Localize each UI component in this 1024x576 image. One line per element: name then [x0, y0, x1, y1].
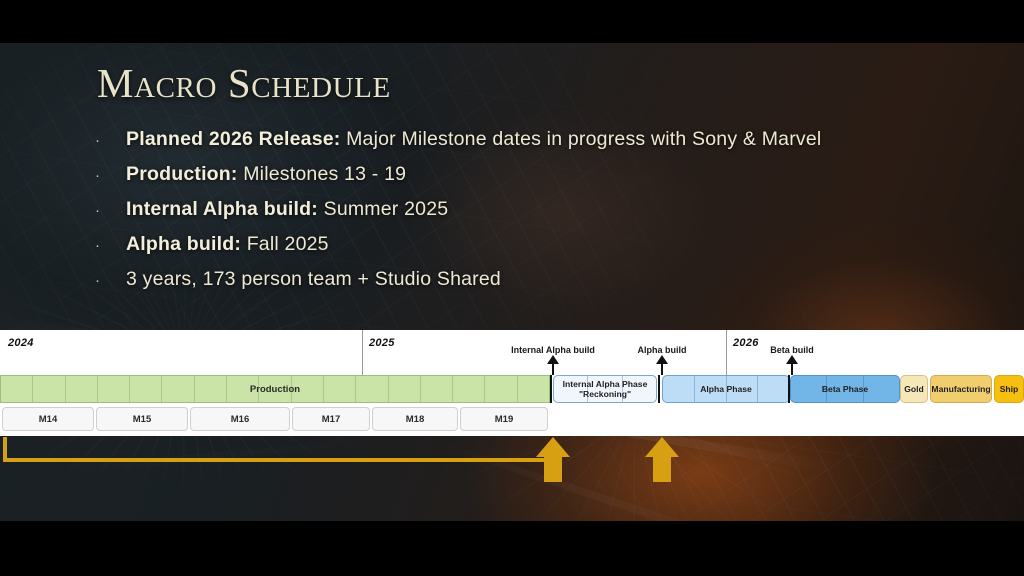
phase-separator-1: [658, 375, 660, 403]
milestone-m17: M17: [292, 407, 370, 431]
letterbox-top: [0, 0, 1024, 43]
year-divider-2026: [726, 330, 727, 380]
milestone-m15: M15: [96, 407, 188, 431]
phase-label: Ship: [997, 384, 1022, 395]
letterbox-bottom: [0, 521, 1024, 576]
bullet-text-4: 3 years, 173 person team + Studio Shared: [126, 267, 501, 291]
year-label-2024: 2024: [8, 337, 34, 349]
phase-ship: Ship: [994, 375, 1024, 403]
slide-root: Macro Schedule · Planned 2026 Release: M…: [0, 0, 1024, 576]
bracket-vertical-stub: [3, 437, 7, 462]
bullet-rest-2: Summer 2025: [324, 198, 449, 220]
list-item: · Production: Milestones 13 - 19: [95, 162, 975, 186]
phase-alpha-phase: Alpha Phase: [662, 375, 790, 403]
bullet-rest-0: Major Milestone dates in progress with S…: [346, 128, 821, 150]
bullet-bold-3: Alpha build:: [126, 233, 241, 255]
list-item: · Internal Alpha build: Summer 2025: [95, 197, 975, 221]
page-title: Macro Schedule: [97, 63, 391, 104]
bullet-text-3: Alpha build: Fall 2025: [126, 232, 329, 256]
milestone-m14: M14: [2, 407, 94, 431]
year-label-2025: 2025: [369, 337, 395, 349]
phase-label: Alpha Phase: [697, 384, 755, 395]
production-bar: Production: [0, 375, 550, 403]
phase-label: Internal Alpha Phase"Reckoning": [560, 379, 651, 400]
bullet-marker: ·: [95, 203, 126, 218]
bullet-bold-0: Planned 2026 Release:: [126, 128, 340, 150]
bullet-bold-2: Internal Alpha build:: [126, 198, 318, 220]
bullet-rest-1: Milestones 13 - 19: [243, 163, 406, 185]
phase-beta-phase: Beta Phase: [790, 375, 900, 403]
phase-gold: Gold: [900, 375, 928, 403]
list-item: · 3 years, 173 person team + Studio Shar…: [95, 267, 975, 291]
phase-separator-0: [550, 375, 552, 403]
phase-manufacturing: Manufacturing: [930, 375, 992, 403]
milestone-m16: M16: [190, 407, 290, 431]
phase-label: Gold: [901, 384, 927, 395]
bullet-text-1: Production: Milestones 13 - 19: [126, 162, 406, 186]
production-label: Production: [250, 384, 300, 395]
bullet-text-2: Internal Alpha build: Summer 2025: [126, 197, 448, 221]
bullet-rest-4: 3 years, 173 person team + Studio Shared: [126, 268, 501, 290]
bullet-bold-1: Production:: [126, 163, 238, 185]
bullet-list: · Planned 2026 Release: Major Milestone …: [95, 127, 975, 302]
bullet-marker: ·: [95, 273, 126, 288]
phase-label: Manufacturing: [928, 384, 993, 395]
bullet-rest-3: Fall 2025: [247, 233, 329, 255]
year-label-2026: 2026: [733, 337, 759, 349]
bullet-marker: ·: [95, 133, 126, 148]
milestone-m18: M18: [372, 407, 458, 431]
phase-separator-2: [788, 375, 790, 403]
bullet-text-0: Planned 2026 Release: Major Milestone da…: [126, 127, 821, 151]
phase-label: Beta Phase: [819, 384, 871, 395]
bullet-marker: ·: [95, 168, 126, 183]
bracket-horizontal-line: [3, 458, 553, 462]
milestone-m19: M19: [460, 407, 548, 431]
list-item: · Planned 2026 Release: Major Milestone …: [95, 127, 975, 151]
phase-internal-alpha-phase: Internal Alpha Phase"Reckoning": [553, 375, 657, 403]
bullet-marker: ·: [95, 238, 126, 253]
list-item: · Alpha build: Fall 2025: [95, 232, 975, 256]
year-divider-2025: [362, 330, 363, 380]
